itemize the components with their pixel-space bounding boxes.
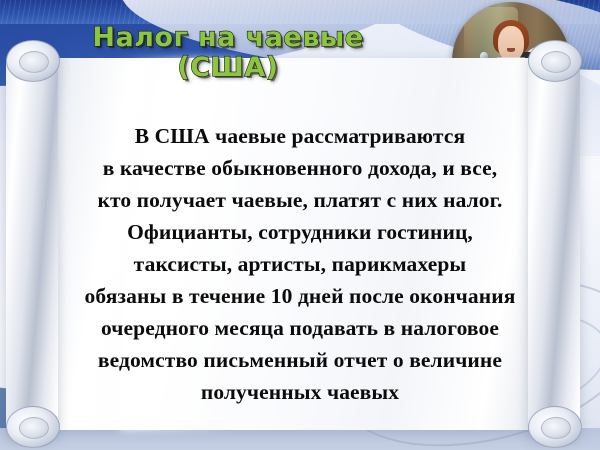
slide-title-line-1: Налог на чаевые	[18, 23, 438, 53]
paper-roll-right-cap-top-inner	[541, 51, 571, 73]
slide-title-line-2: (США)	[18, 53, 438, 83]
photo-person-smile	[507, 48, 515, 52]
paper-roll-right-cap-top	[528, 40, 582, 82]
paper-roll-left-cap-bottom	[6, 406, 60, 448]
photo-person-face	[498, 26, 524, 61]
body-line-5: таксисты, артисты, парикмахеры	[10, 248, 590, 280]
paper-roll-left-cap-bottom-inner	[19, 417, 49, 439]
body-line-3: кто получает чаевые, платят с них налог.	[10, 184, 590, 216]
body-line-7: очередного месяца подавать в налоговое	[10, 312, 590, 344]
body-line-6: обязаны в течение 10 дней после окончани…	[10, 280, 590, 312]
paper-roll-right-cap-bottom-inner	[541, 417, 571, 439]
body-line-9: полученных чаевых	[10, 376, 590, 408]
paper-roll-right-cap-bottom	[528, 406, 582, 448]
body-line-1: В США чаевые рассматриваются	[10, 120, 590, 152]
body-line-8: ведомство письменный отчет о величине	[10, 344, 590, 376]
slide-canvas: Налог на чаевые (США) В США чаевые рассм…	[0, 0, 600, 450]
body-line-2: в качестве обыкновенного дохода, и все,	[10, 152, 590, 184]
slide-body-text: В США чаевые рассматриваются в качестве …	[10, 120, 590, 408]
slide-title: Налог на чаевые (США)	[18, 23, 438, 83]
body-line-4: Официанты, сотрудники гостиниц,	[10, 216, 590, 248]
